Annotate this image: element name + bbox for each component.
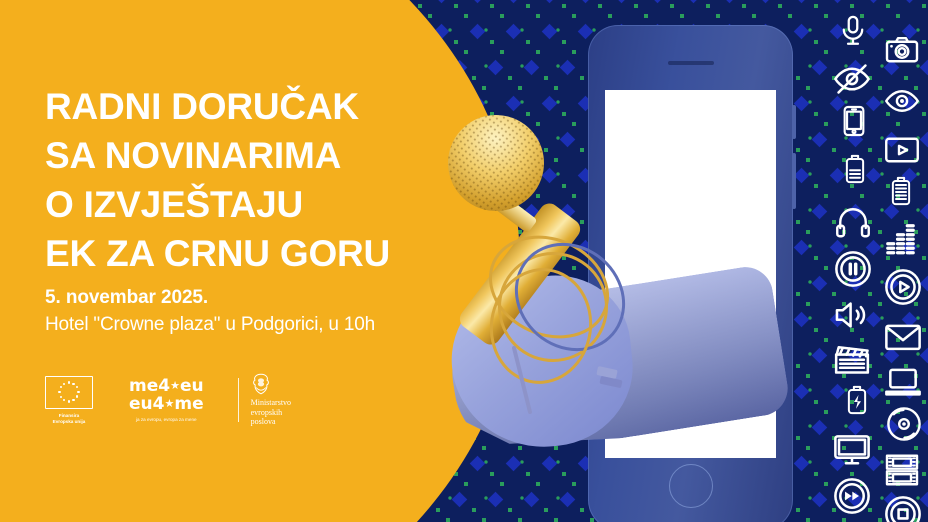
battery-full-icon [886,176,916,206]
title-line-2: SA NOVINARIMA [45,131,465,180]
pause-circle-icon [834,250,872,288]
eu-caption-line-2: Evropska unija [53,419,86,425]
star-icon-2: ★ [164,397,174,410]
me4eu-logo: me4★eu eu4★me ja za evropu, evropa za me… [129,377,204,423]
eye-off-icon [833,60,871,98]
title-line-4: EK ZA CRNU GORU [45,229,465,278]
laptop-icon [884,362,922,400]
title-line-1: RADNI DORUČAK [45,82,465,131]
title-line-3: O IZVJEŠTAJU [45,180,465,229]
equalizer-icon [884,222,920,258]
me4eu-l1-num: 4 [158,376,170,396]
microphone-icon [836,14,870,48]
me4eu-l2-num: 4 [153,394,165,414]
headphones-icon [835,204,871,240]
poster-banner: RADNI DORUČAK SA NOVINARIMA O IZVJEŠTAJU… [0,0,928,522]
eye-icon [884,83,920,119]
film-strip-icon [884,452,920,488]
disc-icon [886,406,922,442]
camera-icon [884,32,920,68]
me4eu-l1-a: me [129,376,158,396]
me4eu-tagline: ja za evropu, evropa za mene [136,416,197,423]
battery-charge-icon [842,385,872,415]
smartphone-icon [838,105,870,137]
ministry-name: Ministarstvo evropskih poslova [251,398,291,427]
me4eu-l2-b: me [174,394,203,414]
play-circle-icon [884,268,922,306]
me4eu-l1-b: eu [180,376,204,396]
stop-circle-icon [884,495,922,522]
me4eu-l2-a: eu [129,394,153,414]
ministry-logo: Ministarstvo evropskih poslova [251,373,291,427]
eu-flag-icon [45,376,93,409]
event-venue: Hotel "Crowne plaza" u Podgorici, u 10h [45,311,475,338]
battery-half-icon [840,154,870,184]
phone-home-button [669,464,713,508]
video-play-icon [884,132,920,168]
event-details: 5. novembar 2025. Hotel "Crowne plaza" u… [45,285,475,338]
speaker-icon [833,296,871,334]
star-icon-1: ★ [170,379,180,392]
fast-forward-icon [833,477,871,515]
eu-funding-logo: Finansira Evropska unija [45,376,93,425]
phone-speaker [668,61,714,65]
phone-volume-down-button [792,153,796,209]
media-icon-column [816,0,928,522]
logo-strip: Finansira Evropska unija me4★eu eu4★me j… [45,372,291,428]
montenegro-coat-of-arms-icon [251,373,271,395]
monitor-icon [833,430,871,468]
logo-divider [238,378,239,422]
clapperboard-icon [833,340,871,378]
event-date: 5. novembar 2025. [45,285,475,311]
me4eu-line-1: me4★eu [129,377,204,395]
page-title: RADNI DORUČAK SA NOVINARIMA O IZVJEŠTAJU… [45,82,465,278]
envelope-icon [884,318,922,356]
phone-volume-up-button [792,105,796,139]
me4eu-line-2: eu4★me [129,395,204,413]
